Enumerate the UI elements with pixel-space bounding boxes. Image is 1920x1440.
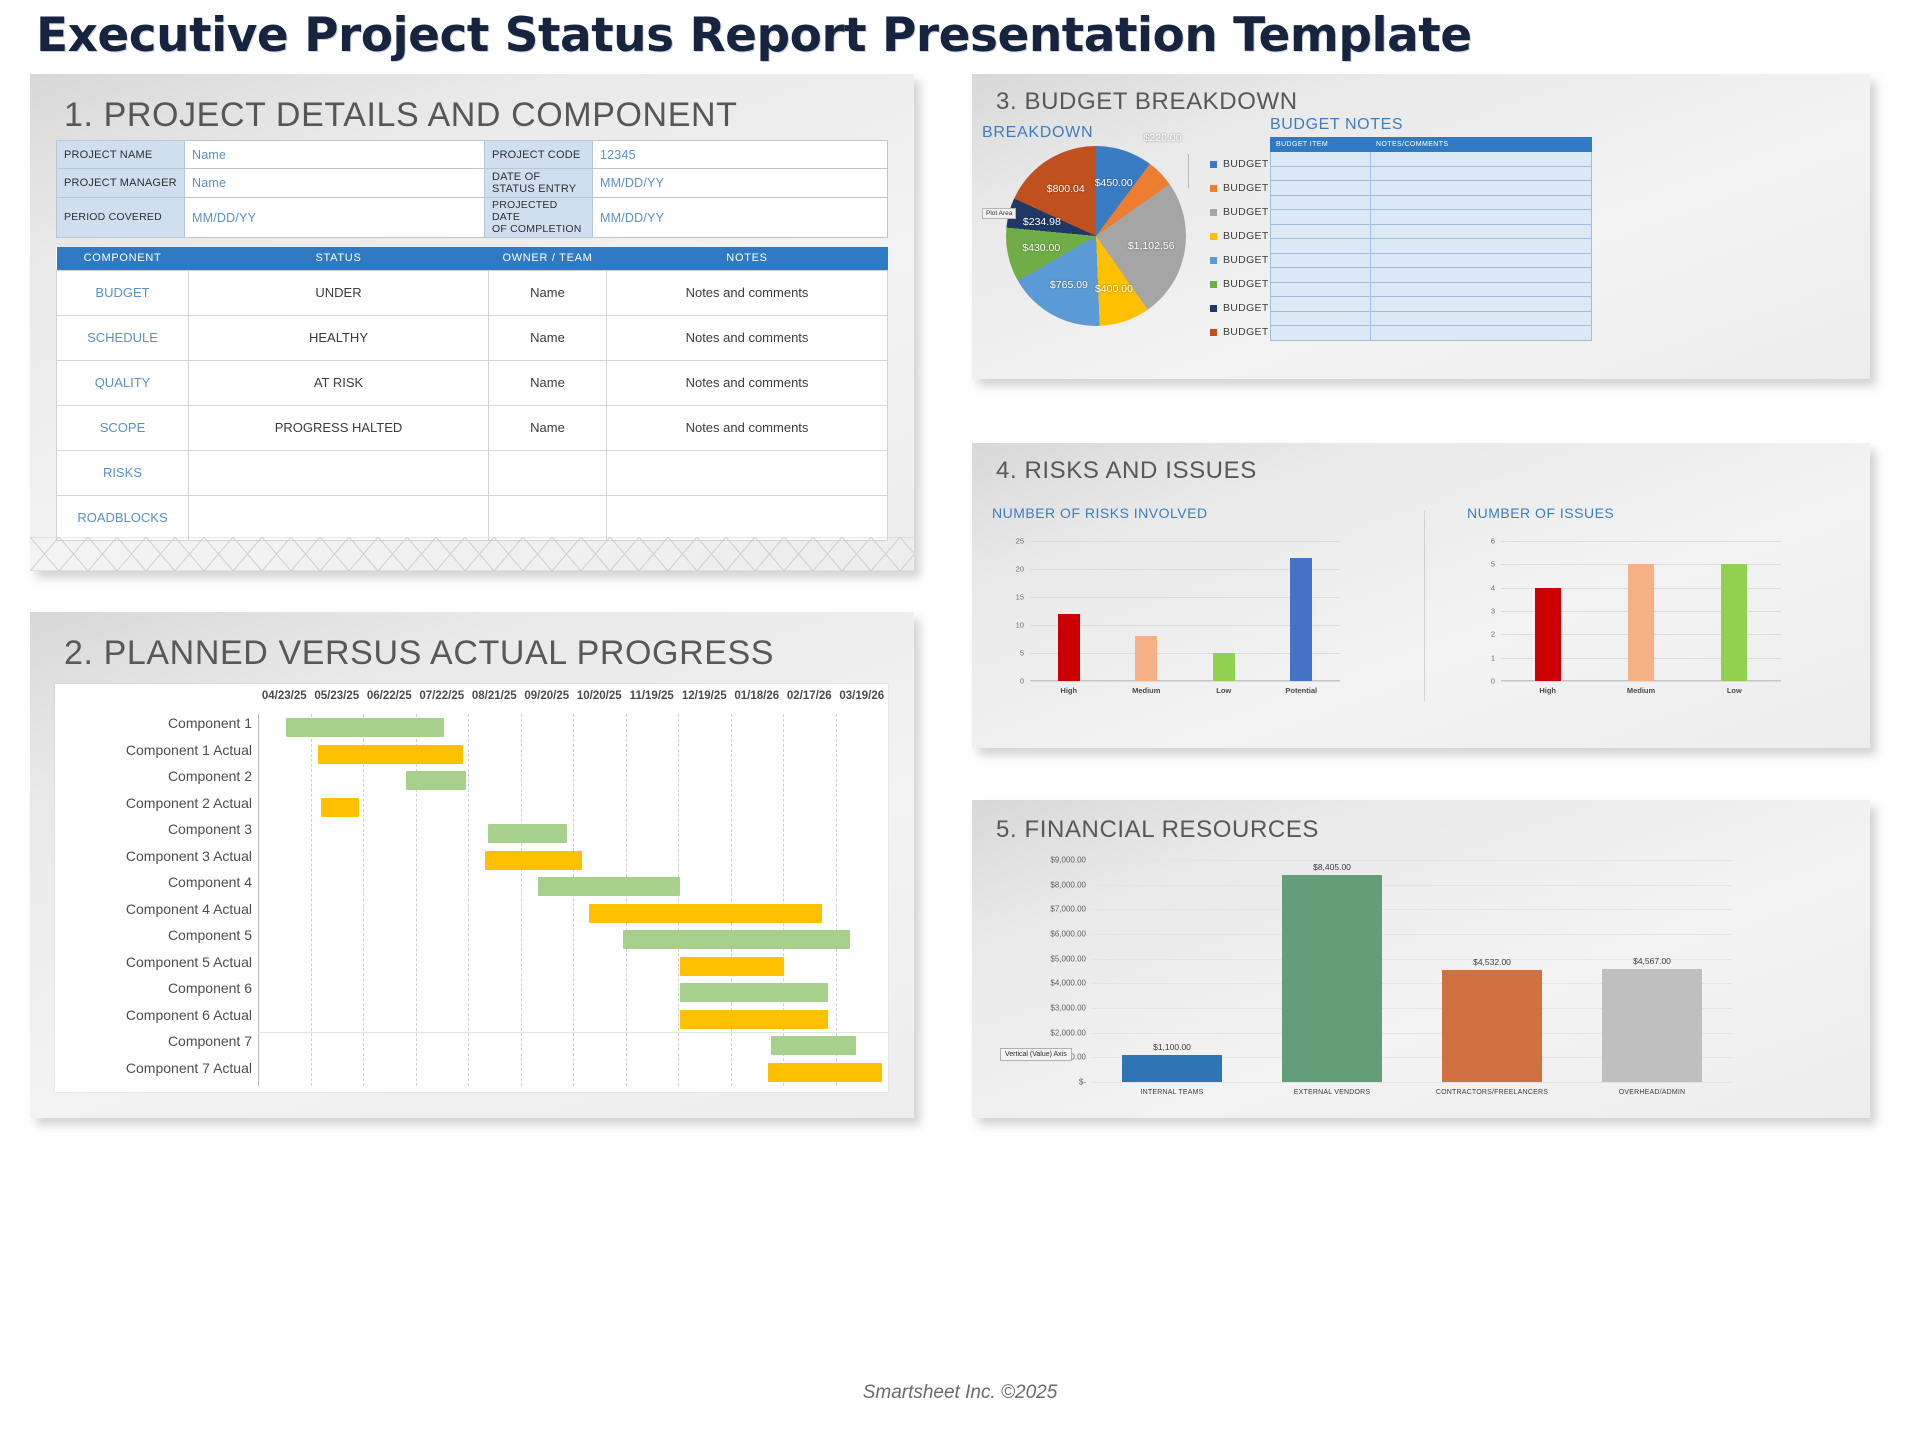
component-notes[interactable]: Notes and comments xyxy=(607,405,888,450)
gantt-date-label: 06/22/25 xyxy=(367,690,412,702)
plot-area-tag: Plot Area xyxy=(982,208,1016,219)
detail-label-2: PROJECTED DATEOF COMPLETION xyxy=(485,198,593,238)
chart-bar[interactable] xyxy=(1602,969,1702,1082)
risks-chart-box: NUMBER OF RISKS INVOLVED 0510152025HighM… xyxy=(992,505,1392,705)
notes-row[interactable] xyxy=(1271,166,1592,181)
risks-bar-chart: 0510152025HighMediumLowPotential xyxy=(1030,541,1340,681)
gantt-date-label: 03/19/26 xyxy=(839,690,884,702)
y-axis-tick-label: $6,000.00 xyxy=(1050,930,1086,939)
gantt-bar-actual[interactable] xyxy=(680,957,784,976)
notes-row[interactable] xyxy=(1271,268,1592,283)
gantt-bar-actual[interactable] xyxy=(321,798,359,817)
gantt-bar-planned[interactable] xyxy=(680,983,828,1002)
y-axis-tick-label: 5 xyxy=(1020,649,1024,658)
gantt-bar-actual[interactable] xyxy=(485,851,583,870)
gantt-row-label: Component 7 xyxy=(52,1033,252,1049)
financial-bar-chart: $-$1,000.00$2,000.00$3,000.00$4,000.00$5… xyxy=(1092,860,1732,1082)
y-axis-tick-label: 4 xyxy=(1491,583,1495,592)
component-notes[interactable]: Notes and comments xyxy=(607,360,888,405)
table-row: SCOPEPROGRESS HALTEDNameNotes and commen… xyxy=(57,405,888,450)
notes-row[interactable] xyxy=(1271,297,1592,312)
gantt-row: Component 1 Actual xyxy=(55,741,888,768)
notes-row[interactable] xyxy=(1271,239,1592,254)
y-axis-tick-label: $2,000.00 xyxy=(1050,1028,1086,1037)
y-axis-tick-label: 0 xyxy=(1491,677,1495,686)
gantt-date-label: 04/23/25 xyxy=(262,690,307,702)
gantt-bar-planned[interactable] xyxy=(771,1036,856,1055)
gantt-row-label: Component 5 Actual xyxy=(52,954,252,970)
bar-value-label: $8,405.00 xyxy=(1313,862,1351,872)
notes-item-cell[interactable] xyxy=(1271,282,1371,297)
gantt-bar-actual[interactable] xyxy=(680,1010,828,1029)
notes-comment-cell[interactable] xyxy=(1371,297,1592,312)
notes-column-header: BUDGET ITEM xyxy=(1271,138,1371,152)
component-status[interactable]: PROGRESS HALTED xyxy=(189,405,489,450)
y-axis-tick-label: $9,000.00 xyxy=(1050,856,1086,865)
page-title: Executive Project Status Report Presenta… xyxy=(36,8,1472,63)
slide-project-details: 1. PROJECT DETAILS AND COMPONENT PROJECT… xyxy=(30,74,914,571)
notes-row[interactable] xyxy=(1271,224,1592,239)
legend-swatch xyxy=(1210,281,1217,288)
component-status[interactable]: UNDER xyxy=(189,270,489,315)
y-axis-tick-label: 6 xyxy=(1491,537,1495,546)
detail-row: PERIOD COVEREDMM/DD/YYPROJECTED DATEOF C… xyxy=(57,198,888,238)
pie-value-label: $1,102.56 xyxy=(1128,240,1175,252)
y-axis-tick-label: $7,000.00 xyxy=(1050,905,1086,914)
chart-gridline xyxy=(1092,860,1732,861)
gantt-chart: 04/23/2505/23/2506/22/2507/22/2508/21/25… xyxy=(55,684,888,1092)
gantt-row-label: Component 7 Actual xyxy=(52,1060,252,1076)
gantt-date-label: 09/20/25 xyxy=(524,690,569,702)
y-axis-tick-label: 3 xyxy=(1491,607,1495,616)
notes-item-cell[interactable] xyxy=(1271,195,1371,210)
notes-comment-cell[interactable] xyxy=(1371,210,1592,225)
gantt-row: Component 2 xyxy=(55,767,888,794)
pie-value-label: $450.00 xyxy=(1095,177,1133,189)
gantt-row: Component 7 Actual xyxy=(55,1059,888,1086)
x-axis-category-label: EXTERNAL VENDORS xyxy=(1294,1089,1370,1096)
x-axis-category-label: Medium xyxy=(1627,686,1655,695)
legend-swatch xyxy=(1210,161,1217,168)
pie-value-label: $765.09 xyxy=(1050,279,1088,291)
table-row: SCHEDULEHEALTHYNameNotes and comments xyxy=(57,315,888,360)
legend-swatch xyxy=(1210,209,1217,216)
slide5-title: 5. FINANCIAL RESOURCES xyxy=(996,816,1319,844)
chart-bar[interactable] xyxy=(1535,588,1561,681)
pie-value-label: $430.00 xyxy=(1022,242,1060,254)
notes-item-cell[interactable] xyxy=(1271,268,1371,283)
detail-label-2: DATE OF STATUS ENTRY xyxy=(485,169,593,198)
chart-gridline xyxy=(1030,541,1340,542)
chart-gridline xyxy=(1092,1082,1732,1083)
component-owner[interactable] xyxy=(489,450,607,495)
y-axis-tick-label: 2 xyxy=(1491,630,1495,639)
bar-value-label: $4,567.00 xyxy=(1633,956,1671,966)
detail-value-2[interactable]: 12345 xyxy=(593,141,888,169)
detail-value[interactable]: Name xyxy=(185,141,485,169)
risks-chart-title: NUMBER OF RISKS INVOLVED xyxy=(992,505,1208,521)
budget-notes-label: BUDGET NOTES xyxy=(1270,116,1403,134)
notes-comment-cell[interactable] xyxy=(1371,181,1592,196)
gantt-date-label: 11/19/25 xyxy=(630,690,674,702)
bar-value-label: $1,100.00 xyxy=(1153,1042,1191,1052)
notes-row[interactable] xyxy=(1271,181,1592,196)
y-axis-tick-label: 1 xyxy=(1491,653,1495,662)
gantt-bar-actual[interactable] xyxy=(768,1063,881,1082)
legend-swatch xyxy=(1210,233,1217,240)
detail-row: PROJECT NAMENamePROJECT CODE12345 xyxy=(57,141,888,169)
gantt-bar-actual[interactable] xyxy=(589,904,822,923)
detail-label: PROJECT MANAGER xyxy=(57,169,185,198)
table-row: QUALITYAT RISKNameNotes and comments xyxy=(57,360,888,405)
budget-pie-chart: $450.00$220.00$1,102.56$400.00$765.09$43… xyxy=(1006,146,1186,326)
notes-comment-cell[interactable] xyxy=(1371,268,1592,283)
chart-bar[interactable] xyxy=(1058,614,1080,681)
component-name: ROADBLOCKS xyxy=(57,495,189,540)
gantt-bar-planned[interactable] xyxy=(488,824,567,843)
notes-item-cell[interactable] xyxy=(1271,181,1371,196)
chart-gridline xyxy=(1092,885,1732,886)
chart-gridline xyxy=(1501,681,1781,682)
component-name: RISKS xyxy=(57,450,189,495)
pie-slices xyxy=(1006,146,1186,326)
slide-budget-breakdown: 3. BUDGET BREAKDOWN BREAKDOWN $450.00$22… xyxy=(972,74,1870,379)
gantt-date-axis: 04/23/2505/23/2506/22/2507/22/2508/21/25… xyxy=(55,690,888,712)
x-axis-category-label: Low xyxy=(1727,686,1742,695)
legend-swatch xyxy=(1210,305,1217,312)
notes-comment-cell[interactable] xyxy=(1371,326,1592,341)
notes-row[interactable] xyxy=(1271,311,1592,326)
detail-row: PROJECT MANAGERNameDATE OF STATUS ENTRYM… xyxy=(57,169,888,198)
notes-item-cell[interactable] xyxy=(1271,166,1371,181)
gantt-row: Component 4 Actual xyxy=(55,900,888,927)
y-axis-tick-label: 0 xyxy=(1020,677,1024,686)
component-name: BUDGET xyxy=(57,270,189,315)
gantt-bar-planned[interactable] xyxy=(623,930,850,949)
project-details-table: PROJECT NAMENamePROJECT CODE12345PROJECT… xyxy=(56,140,888,238)
issues-chart-title: NUMBER OF ISSUES xyxy=(1467,505,1614,521)
notes-item-cell[interactable] xyxy=(1271,326,1371,341)
gantt-date-label: 01/18/26 xyxy=(734,690,779,702)
component-name: SCOPE xyxy=(57,405,189,450)
vertical-axis-tag: Vertical (Value) Axis xyxy=(1000,1048,1072,1061)
gantt-date-label: 08/21/25 xyxy=(472,690,517,702)
component-notes[interactable]: Notes and comments xyxy=(607,315,888,360)
gantt-bar-planned[interactable] xyxy=(406,771,466,790)
detail-value[interactable]: Name xyxy=(185,169,485,198)
x-axis-category-label: High xyxy=(1060,686,1077,695)
notes-item-cell[interactable] xyxy=(1271,152,1371,167)
gantt-row-label: Component 2 xyxy=(52,768,252,784)
chart-bar[interactable] xyxy=(1721,564,1747,681)
legend-swatch xyxy=(1210,257,1217,264)
gantt-row-label: Component 3 Actual xyxy=(52,848,252,864)
breakdown-label: BREAKDOWN xyxy=(982,124,1093,142)
gantt-rows: Component 1Component 1 ActualComponent 2… xyxy=(55,714,888,1086)
y-axis-tick-label: $- xyxy=(1079,1078,1086,1087)
y-axis-tick-label: $4,000.00 xyxy=(1050,979,1086,988)
detail-value[interactable]: MM/DD/YY xyxy=(185,198,485,238)
table-row: ROADBLOCKS xyxy=(57,495,888,540)
decorative-triangle-strip xyxy=(30,537,914,571)
chart-gridline xyxy=(1092,909,1732,910)
notes-comment-cell[interactable] xyxy=(1371,253,1592,268)
table-row: BUDGETUNDERNameNotes and comments xyxy=(57,270,888,315)
chart-bar[interactable] xyxy=(1282,875,1382,1082)
gantt-row-label: Component 2 Actual xyxy=(52,795,252,811)
notes-item-cell[interactable] xyxy=(1271,253,1371,268)
gantt-date-label: 10/20/25 xyxy=(577,690,622,702)
gantt-row: Component 2 Actual xyxy=(55,794,888,821)
notes-row[interactable] xyxy=(1271,282,1592,297)
chart-gridline xyxy=(1501,541,1781,542)
y-axis-tick-label: 5 xyxy=(1491,560,1495,569)
gantt-row-label: Component 6 Actual xyxy=(52,1007,252,1023)
x-axis-category-label: INTERNAL TEAMS xyxy=(1140,1089,1203,1096)
notes-row[interactable] xyxy=(1271,326,1592,341)
gantt-row-label: Component 1 xyxy=(52,715,252,731)
notes-row[interactable] xyxy=(1271,210,1592,225)
x-axis-category-label: OVERHEAD/ADMIN xyxy=(1619,1089,1686,1096)
component-status[interactable]: AT RISK xyxy=(189,360,489,405)
gantt-row: Component 3 xyxy=(55,820,888,847)
y-axis-tick-label: $5,000.00 xyxy=(1050,954,1086,963)
component-table-header: COMPONENT xyxy=(57,247,189,270)
x-axis-category-label: Potential xyxy=(1285,686,1317,695)
issues-bar-chart: 0123456HighMediumLow xyxy=(1501,541,1781,681)
notes-item-cell[interactable] xyxy=(1271,297,1371,312)
gantt-date-label: 12/19/25 xyxy=(682,690,727,702)
gantt-row: Component 7 xyxy=(55,1032,888,1059)
pie-leader-line xyxy=(1188,154,1189,188)
detail-label: PROJECT NAME xyxy=(57,141,185,169)
notes-comment-cell[interactable] xyxy=(1371,195,1592,210)
presentation-page: Executive Project Status Report Presenta… xyxy=(0,0,1920,1440)
notes-item-cell[interactable] xyxy=(1271,311,1371,326)
slide2-title: 2. PLANNED VERSUS ACTUAL PROGRESS xyxy=(64,634,774,673)
gantt-row-label: Component 4 Actual xyxy=(52,901,252,917)
slide3-title: 3. BUDGET BREAKDOWN xyxy=(996,88,1298,116)
component-status[interactable] xyxy=(189,450,489,495)
y-axis-tick-label: 10 xyxy=(1016,621,1024,630)
pie-value-label: $220.00 xyxy=(1144,132,1182,144)
notes-row[interactable] xyxy=(1271,253,1592,268)
component-status[interactable] xyxy=(189,495,489,540)
component-owner[interactable]: Name xyxy=(489,270,607,315)
component-notes[interactable]: Notes and comments xyxy=(607,270,888,315)
component-owner[interactable] xyxy=(489,495,607,540)
notes-item-cell[interactable] xyxy=(1271,210,1371,225)
footer-credit: Smartsheet Inc. ©2025 xyxy=(0,1382,1920,1404)
detail-value-2[interactable]: MM/DD/YY xyxy=(593,169,888,198)
component-status[interactable]: HEALTHY xyxy=(189,315,489,360)
gantt-row-label: Component 6 xyxy=(52,980,252,996)
chart-gridline xyxy=(1030,681,1340,682)
y-axis-tick-label: $8,000.00 xyxy=(1050,880,1086,889)
chart-bar[interactable] xyxy=(1213,653,1235,681)
component-notes[interactable] xyxy=(607,495,888,540)
notes-comment-cell[interactable] xyxy=(1371,282,1592,297)
gantt-row: Component 5 Actual xyxy=(55,953,888,980)
gantt-bar-planned[interactable] xyxy=(286,718,444,737)
notes-comment-cell[interactable] xyxy=(1371,239,1592,254)
gantt-row-label: Component 4 xyxy=(52,874,252,890)
budget-notes-table[interactable]: BUDGET ITEMNOTES/COMMENTS xyxy=(1270,137,1592,341)
slide-risks-issues: 4. RISKS AND ISSUES NUMBER OF RISKS INVO… xyxy=(972,443,1870,748)
chart-bar[interactable] xyxy=(1122,1055,1222,1082)
gantt-row: Component 6 xyxy=(55,979,888,1006)
component-table-header: STATUS xyxy=(189,247,489,270)
gantt-row-label: Component 3 xyxy=(52,821,252,837)
gantt-row-label: Component 1 Actual xyxy=(52,742,252,758)
y-axis-tick-label: 20 xyxy=(1016,565,1024,574)
notes-item-cell[interactable] xyxy=(1271,239,1371,254)
detail-label-2: PROJECT CODE xyxy=(485,141,593,169)
component-owner[interactable]: Name xyxy=(489,315,607,360)
chart-bar[interactable] xyxy=(1135,636,1157,681)
y-axis-tick-label: $3,000.00 xyxy=(1050,1004,1086,1013)
component-name: SCHEDULE xyxy=(57,315,189,360)
slide1-title: 1. PROJECT DETAILS AND COMPONENT xyxy=(64,96,738,135)
notes-row[interactable] xyxy=(1271,152,1592,167)
slide-financial-resources: 5. FINANCIAL RESOURCES $-$1,000.00$2,000… xyxy=(972,800,1870,1118)
gantt-bar-actual[interactable] xyxy=(318,745,463,764)
component-owner[interactable]: Name xyxy=(489,405,607,450)
chart-gridline xyxy=(1092,934,1732,935)
slide4-title: 4. RISKS AND ISSUES xyxy=(996,457,1257,485)
bar-value-label: $4,532.00 xyxy=(1473,957,1511,967)
gantt-row: Component 6 Actual xyxy=(55,1006,888,1033)
pie-value-label: $800.04 xyxy=(1047,183,1085,195)
component-table-header: NOTES xyxy=(607,247,888,270)
table-row: RISKS xyxy=(57,450,888,495)
gantt-row: Component 5 xyxy=(55,926,888,953)
gantt-bar-planned[interactable] xyxy=(538,877,680,896)
component-name: QUALITY xyxy=(57,360,189,405)
y-axis-tick-label: 25 xyxy=(1016,537,1024,546)
x-axis-category-label: Low xyxy=(1216,686,1231,695)
notes-row[interactable] xyxy=(1271,195,1592,210)
detail-value-2[interactable]: MM/DD/YY xyxy=(593,198,888,238)
x-axis-category-label: CONTRACTORS/FREELANCERS xyxy=(1436,1089,1548,1096)
chart-bar[interactable] xyxy=(1628,564,1654,681)
notes-column-header: NOTES/COMMENTS xyxy=(1371,138,1592,152)
x-axis-category-label: Medium xyxy=(1132,686,1160,695)
pie-value-label: $400.00 xyxy=(1095,283,1133,295)
detail-label: PERIOD COVERED xyxy=(57,198,185,238)
gantt-row: Component 3 Actual xyxy=(55,847,888,874)
issues-chart-box: NUMBER OF ISSUES 0123456HighMediumLow xyxy=(1467,505,1847,705)
notes-comment-cell[interactable] xyxy=(1371,166,1592,181)
gantt-row: Component 1 xyxy=(55,714,888,741)
legend-swatch xyxy=(1210,329,1217,336)
gantt-date-label: 05/23/25 xyxy=(314,690,359,702)
component-notes[interactable] xyxy=(607,450,888,495)
chart-divider xyxy=(1424,511,1425,701)
notes-item-cell[interactable] xyxy=(1271,224,1371,239)
notes-comment-cell[interactable] xyxy=(1371,152,1592,167)
y-axis-tick-label: 15 xyxy=(1016,593,1024,602)
x-axis-category-label: High xyxy=(1539,686,1556,695)
gantt-date-label: 07/22/25 xyxy=(419,690,464,702)
chart-bar[interactable] xyxy=(1442,970,1542,1082)
pie-value-label: $234.98 xyxy=(1023,216,1061,228)
slide-planned-vs-actual: 2. PLANNED VERSUS ACTUAL PROGRESS 04/23/… xyxy=(30,612,914,1118)
component-owner[interactable]: Name xyxy=(489,360,607,405)
gantt-date-label: 02/17/26 xyxy=(787,690,832,702)
component-status-table: COMPONENTSTATUSOWNER / TEAMNOTES BUDGETU… xyxy=(56,247,888,541)
legend-swatch xyxy=(1210,185,1217,192)
gantt-row-label: Component 5 xyxy=(52,927,252,943)
chart-bar[interactable] xyxy=(1290,558,1312,681)
notes-comment-cell[interactable] xyxy=(1371,224,1592,239)
gantt-row: Component 4 xyxy=(55,873,888,900)
notes-comment-cell[interactable] xyxy=(1371,311,1592,326)
component-table-header: OWNER / TEAM xyxy=(489,247,607,270)
